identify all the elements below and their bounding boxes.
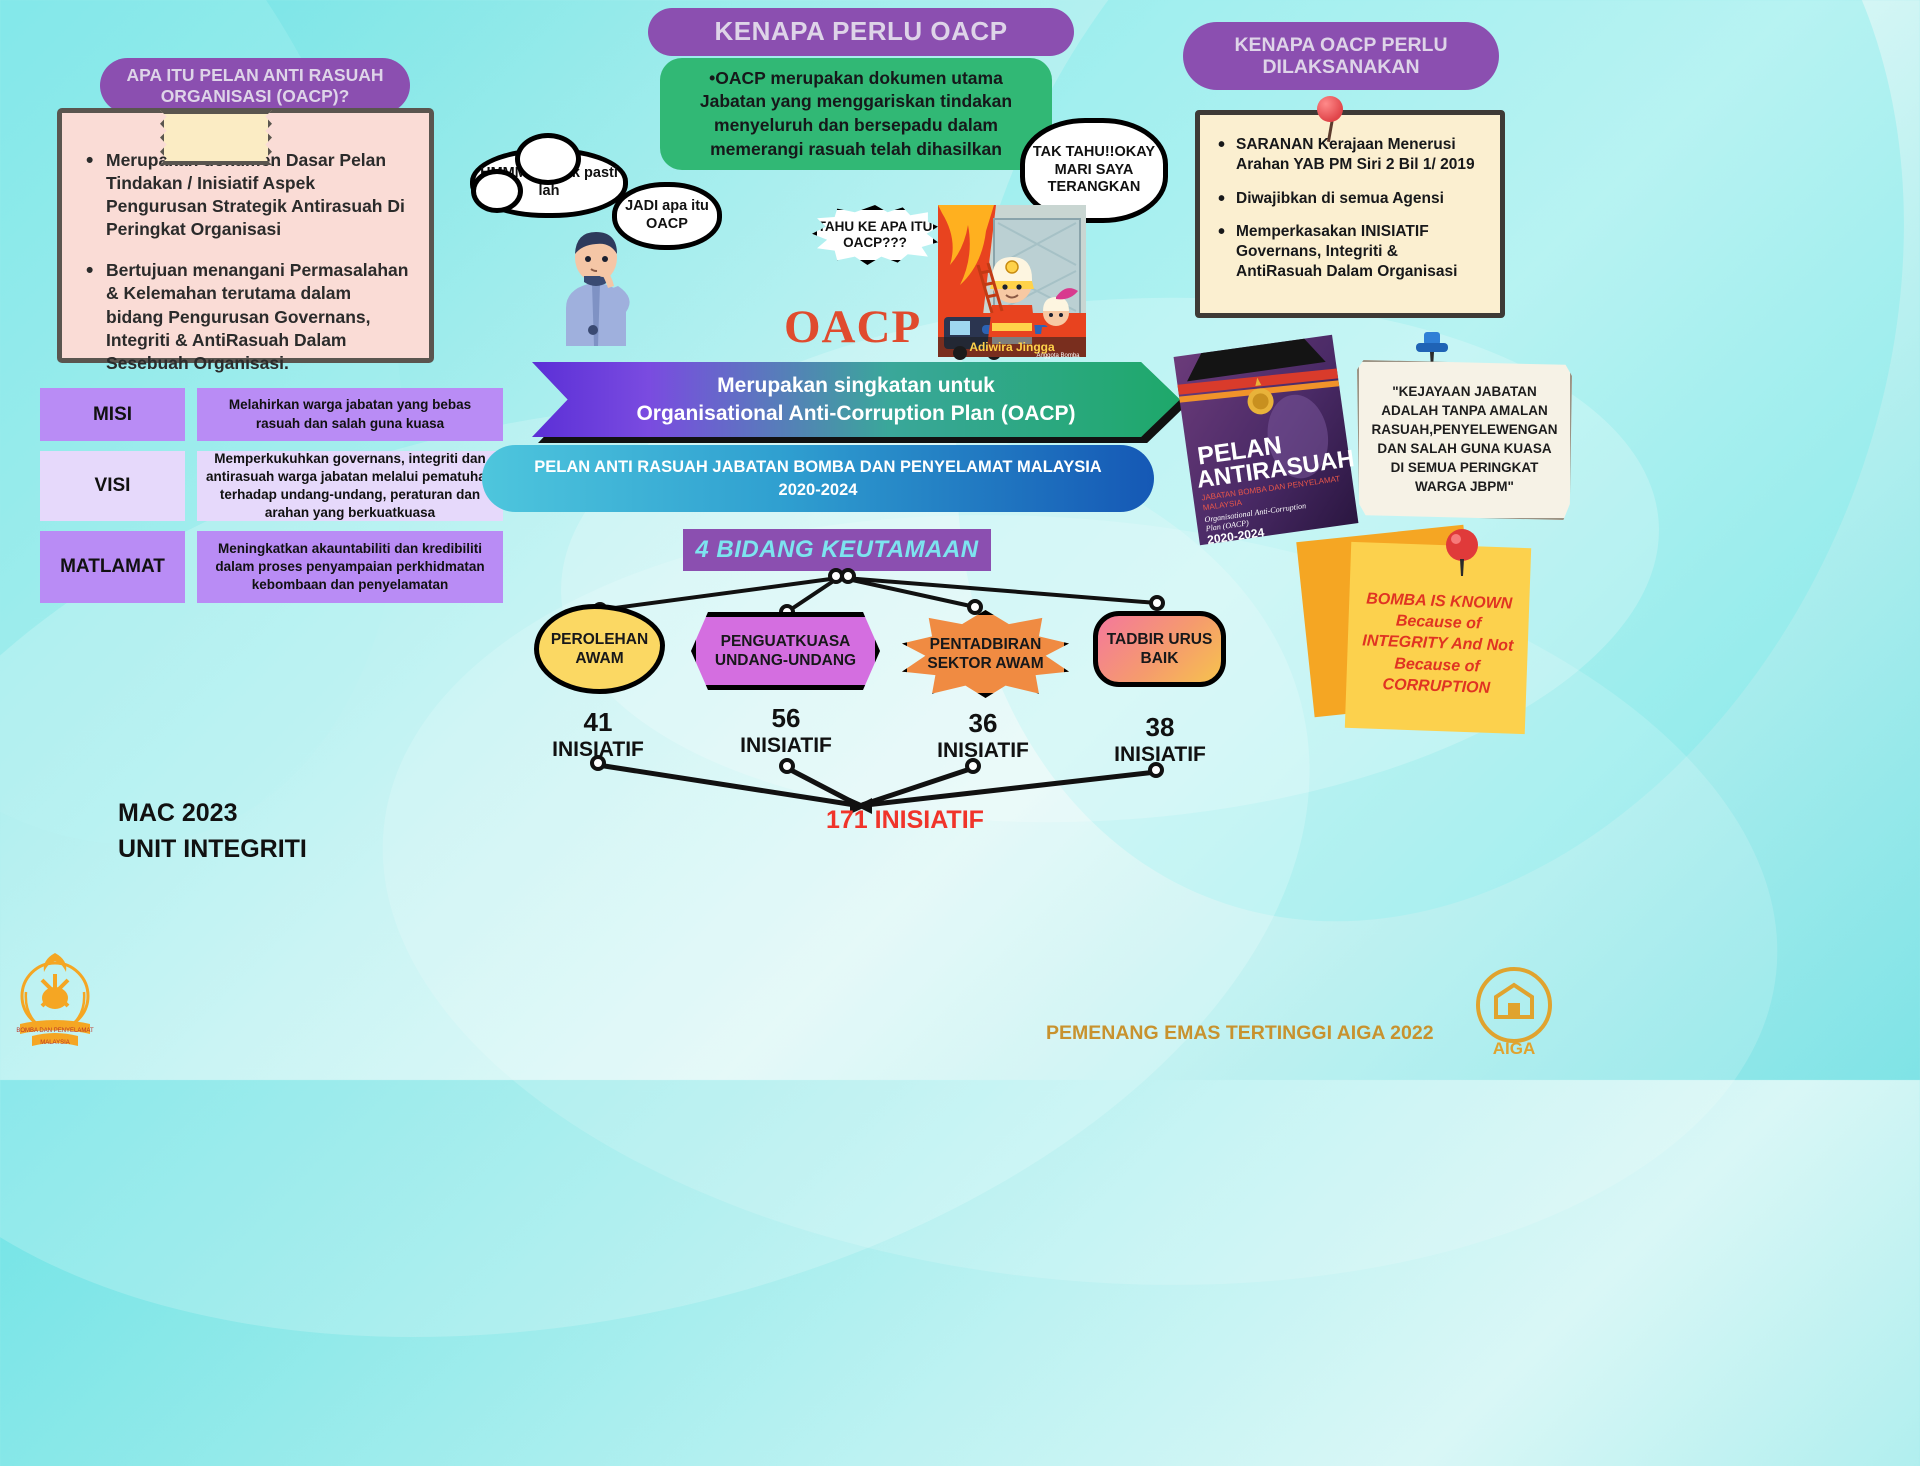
bidang-header-text: 4 BIDANG KEUTAMAAN <box>695 536 978 564</box>
initiative-count-1: 41 INISIATIF <box>518 707 678 762</box>
list-item: SARANAN Kerajaan Menerusi Arahan YAB PM … <box>1216 135 1486 175</box>
row-key: MISI <box>40 388 185 441</box>
initiative-count-3: 36 INISIATIF <box>903 708 1063 763</box>
speech-bubble-3: TAHU KE APA ITU OACP??? <box>812 205 938 265</box>
count-unit: INISIATIF <box>518 738 678 762</box>
table-row: VISI Memperkukuhkan governans, integriti… <box>40 451 503 521</box>
center-section-header: KENAPA PERLU OACP <box>648 8 1074 56</box>
blue-title-pill: PELAN ANTI RASUAH JABATAN BOMBA DAN PENY… <box>482 445 1154 512</box>
list-item: Bertujuan menangani Permasalahan & Kelem… <box>84 259 411 374</box>
blue-pill-line-2: 2020-2024 <box>779 481 858 499</box>
green-info-box: •OACP merupakan dokumen utama Jabatan ya… <box>660 58 1052 170</box>
row-key: MATLAMAT <box>40 531 185 603</box>
mascot-label: Adiwira Jingga <box>969 340 1055 354</box>
banner-line-2: Organisational Anti-Corruption Plan (OAC… <box>636 402 1075 425</box>
pushpin-red2-icon <box>1438 528 1486 576</box>
bomba-mascot-poster: Adiwira Jingga Anggota Bomba <box>938 205 1086 357</box>
total-initiatives-label: 171 INISIATIF <box>826 806 984 835</box>
footer-unit: UNIT INTEGRITI <box>118 835 307 863</box>
blue-pill-line-1: PELAN ANTI RASUAH JABATAN BOMBA DAN PENY… <box>534 458 1101 476</box>
arrow-banner: Merupakan singkatan untuk Organisational… <box>532 362 1180 437</box>
bidang-shape-pentadbiran: PENTADBIRAN SEKTOR AWAM <box>902 610 1069 698</box>
bidang-keutamaan-header: 4 BIDANG KEUTAMAAN <box>683 529 991 571</box>
mascot-sublabel: Anggota Bomba <box>1036 353 1080 359</box>
footer-date: MAC 2023 <box>118 799 238 827</box>
table-row: MATLAMAT Meningkatkan akauntabiliti dan … <box>40 531 503 603</box>
svg-text:MALAYSIA: MALAYSIA <box>40 1040 70 1046</box>
count-value: 36 <box>903 708 1063 739</box>
count-value: 38 <box>1080 712 1240 743</box>
count-unit: INISIATIF <box>1080 743 1240 767</box>
sticky-note-text: BOMBA IS KNOWN Because of INTEGRITY And … <box>1356 588 1520 699</box>
infographic-canvas: APA ITU PELAN ANTI RASUAH ORGANISASI (OA… <box>0 0 1920 1080</box>
initiative-count-4: 38 INISIATIF <box>1080 712 1240 767</box>
row-value: Melahirkan warga jabatan yang bebas rasu… <box>197 388 503 441</box>
initiative-count-2: 56 INISIATIF <box>706 703 866 758</box>
bidang-shape-perolehan-awam: PEROLEHAN AWAM <box>534 604 665 694</box>
count-unit: INISIATIF <box>903 739 1063 763</box>
oacp-book-cover: PELAN ANTIRASUAH JABATAN BOMBA DAN PENYE… <box>1174 335 1359 545</box>
tape-strip-icon <box>160 110 272 165</box>
row-value: Meningkatkan akauntabiliti dan kredibili… <box>197 531 503 603</box>
left-section-header: APA ITU PELAN ANTI RASUAH ORGANISASI (OA… <box>100 58 410 113</box>
quote-scroll: "KEJAYAAN JABATAN ADALAH TANPA AMALAN RA… <box>1357 360 1572 520</box>
count-value: 41 <box>518 707 678 738</box>
speech-bubble-1: HMMMM.... tak pasti lah <box>470 148 628 218</box>
pushpin-red-icon <box>1317 96 1343 122</box>
count-value: 56 <box>706 703 866 734</box>
bidang-shape-penguatkuasa: PENGUATKUASA UNDANG-UNDANG <box>691 612 880 690</box>
footer-date-unit: MAC 2023 UNIT INTEGRITI <box>118 795 307 868</box>
background-swoosh <box>344 449 1816 1351</box>
aiga-logo-text: AIGA <box>1493 1039 1536 1058</box>
right-section-header: KENAPA OACP PERLU DILAKSANAKAN <box>1183 22 1499 90</box>
row-key: VISI <box>40 451 185 521</box>
misi-visi-matlamat-table: MISI Melahirkan warga jabatan yang bebas… <box>40 388 503 613</box>
scroll-quote-text: "KEJAYAAN JABATAN ADALAH TANPA AMALAN RA… <box>1372 383 1558 496</box>
thinking-person-illustration <box>548 228 644 346</box>
kenapa-dilaksanakan-card: SARANAN Kerajaan Menerusi Arahan YAB PM … <box>1195 110 1505 318</box>
table-row: MISI Melahirkan warga jabatan yang bebas… <box>40 388 503 441</box>
aiga-logo: AIGA <box>1470 965 1558 1057</box>
row-value: Memperkukuhkan governans, integriti dan … <box>197 451 503 521</box>
jbpm-logo: BOMBA DAN PENYELAMAT MALAYSIA <box>12 950 98 1050</box>
award-text: PEMENANG EMAS TERTINGGI AIGA 2022 <box>1046 1022 1434 1045</box>
banner-line-1: Merupakan singkatan untuk <box>717 374 995 397</box>
count-unit: INISIATIF <box>706 734 866 758</box>
list-item: Diwajibkan di semua Agensi <box>1216 189 1486 209</box>
bidang-shape-tadbir-urus: TADBIR URUS BAIK <box>1093 611 1226 687</box>
oacp-wordmark: OACP <box>784 300 921 354</box>
list-item: Memperkasakan INISIATIF Governans, Integ… <box>1216 222 1486 281</box>
